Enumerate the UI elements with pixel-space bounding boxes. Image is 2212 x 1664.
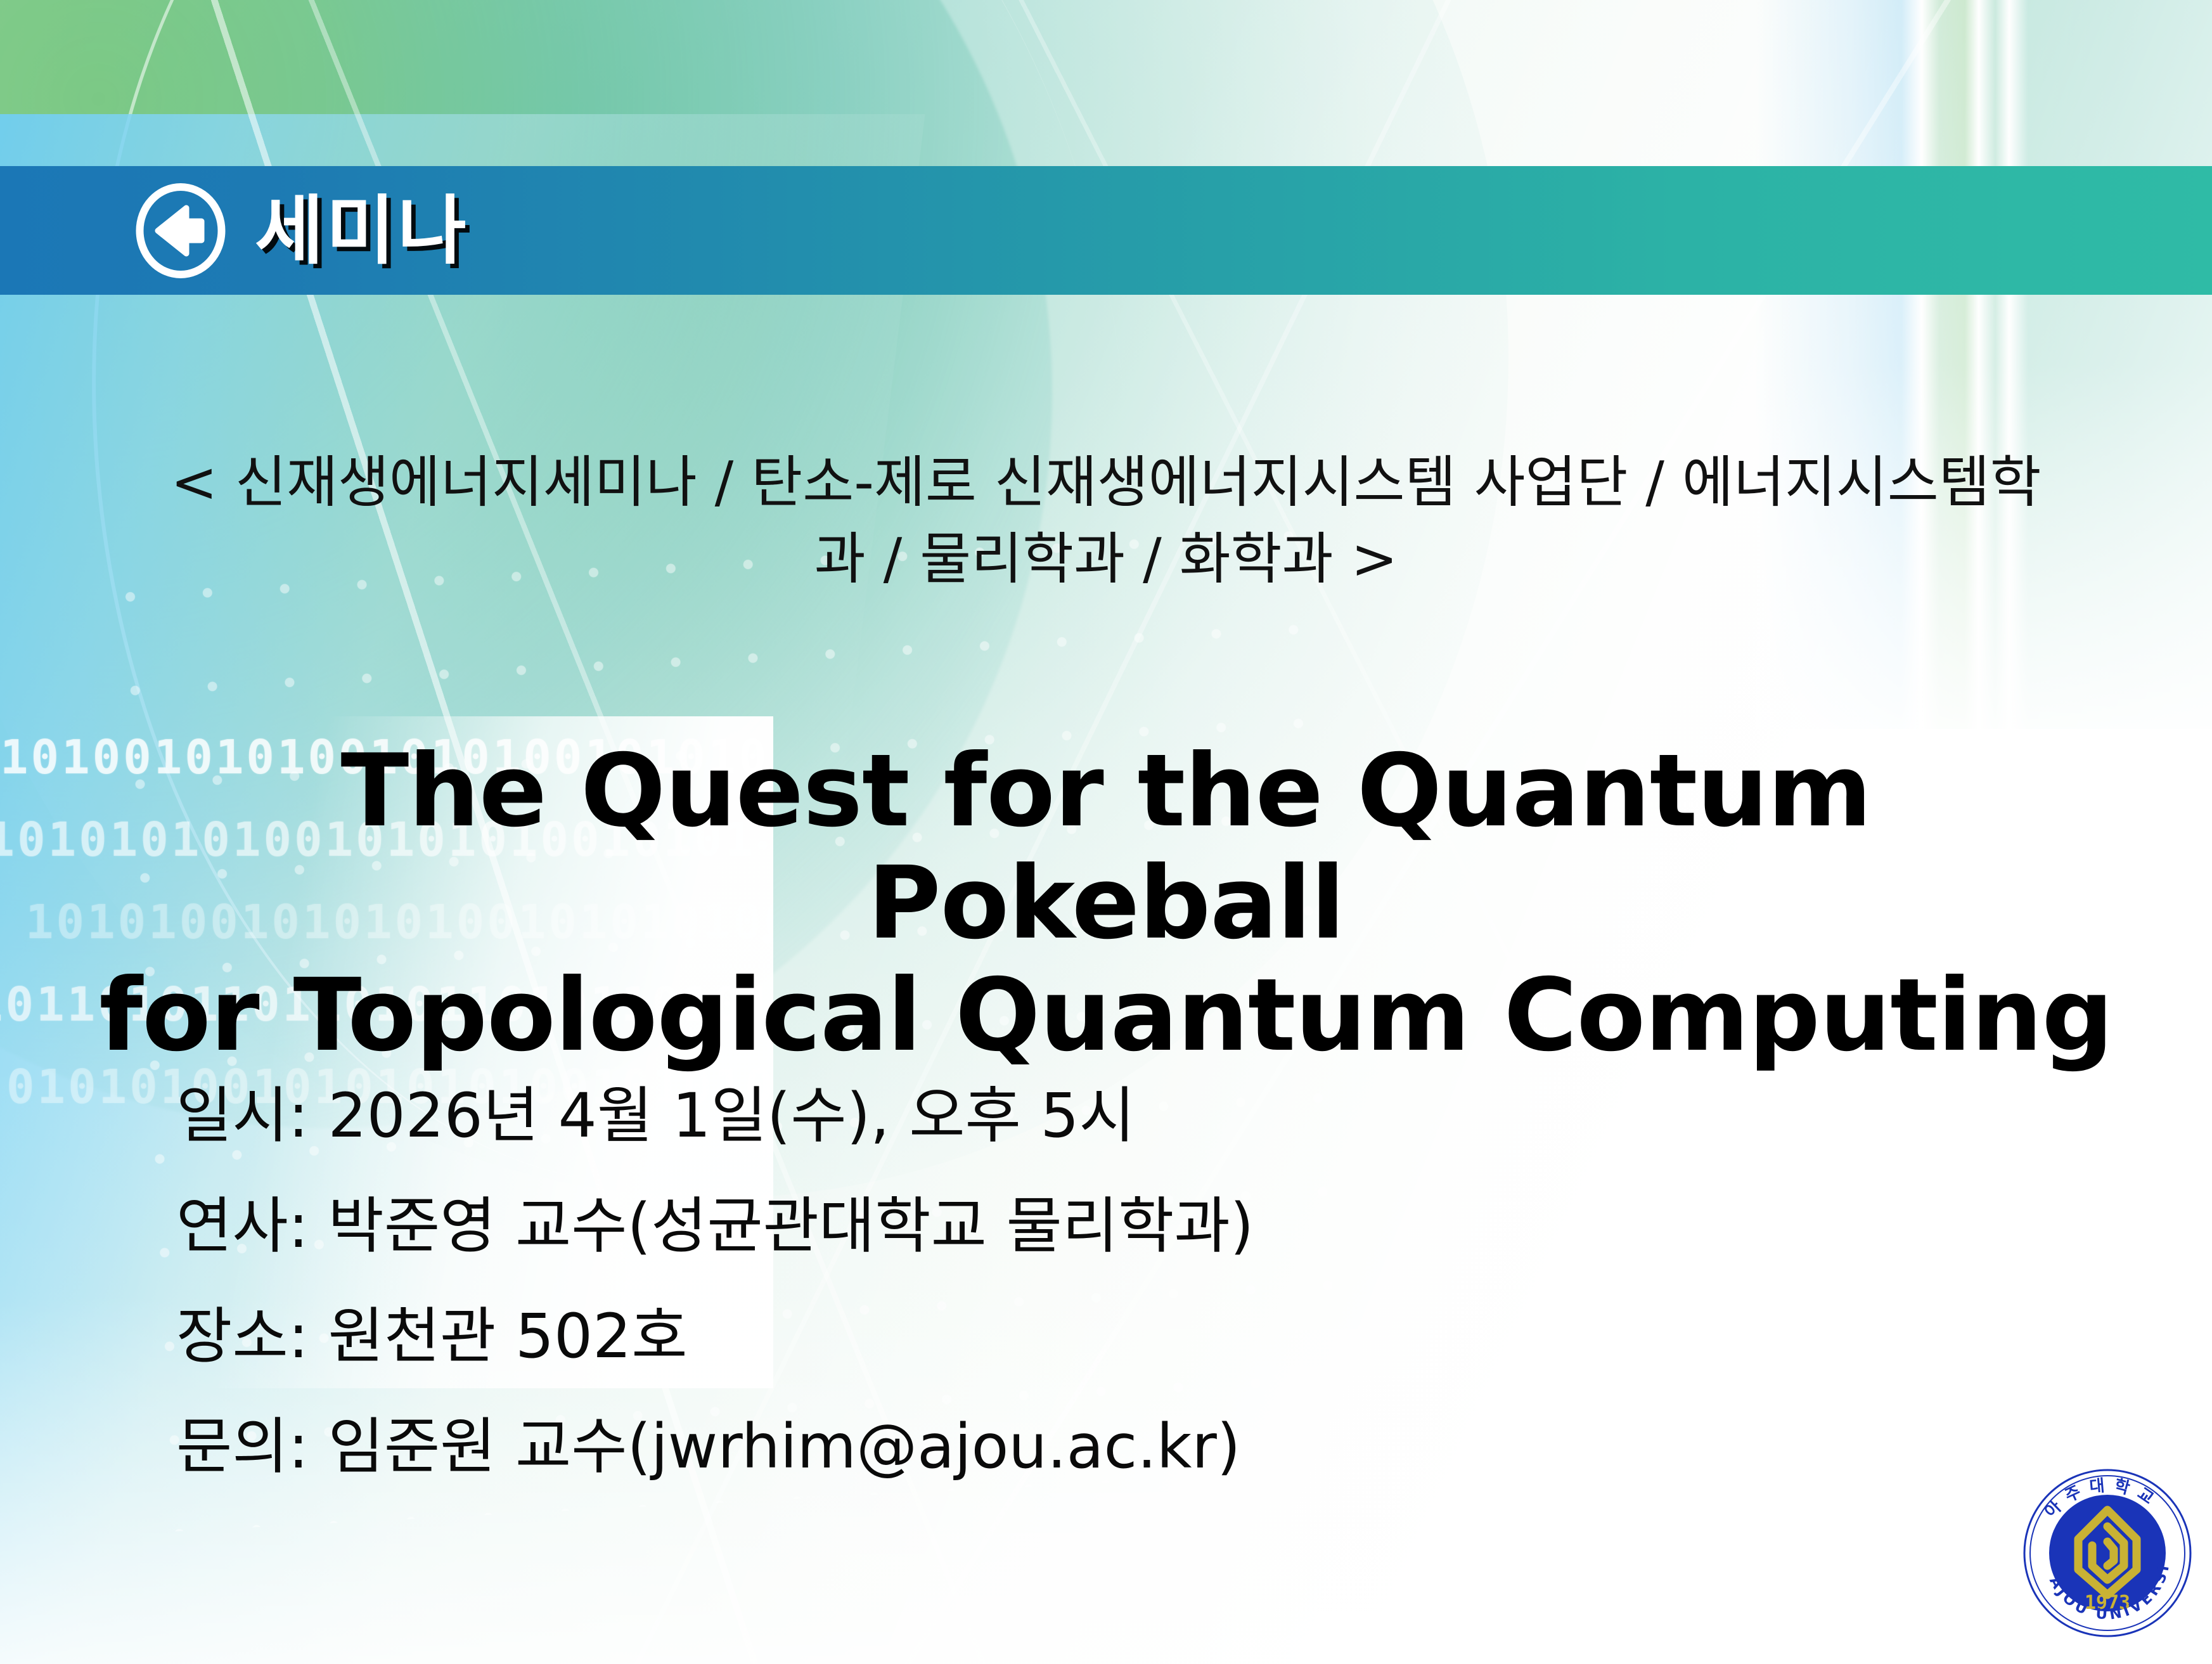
detail-contact: 문의: 임준원 교수(jwrhim@ajou.ac.kr) <box>176 1416 1887 1477</box>
back-arrow-circle-icon[interactable] <box>133 183 228 278</box>
header-title: 세미나 <box>255 193 469 268</box>
header-band: 세미나 <box>0 166 2212 295</box>
detail-datetime: 일시: 2026년 4월 1일(수), 오후 5시 <box>176 1085 1887 1146</box>
title-line-1: The Quest for the Quantum Pokeball <box>89 735 2123 960</box>
ajou-university-logo: 1973 아주대학교 AJOU UNIVERSITY <box>2012 1458 2202 1648</box>
event-details: 일시: 2026년 4월 1일(수), 오후 5시 연사: 박준영 교수(성균관… <box>176 1085 1887 1526</box>
background-stripes-fade <box>1756 0 2212 729</box>
seminar-poster-slide: 10100101010010101001010101 0101010101001… <box>0 0 2212 1664</box>
subtitle-line: < 신재생에너지세미나 / 탄소-제로 신재생에너지시스템 사업단 / 에너지시… <box>0 444 2212 598</box>
detail-speaker: 연사: 박준영 교수(성균관대학교 물리학과) <box>176 1196 1887 1256</box>
detail-location: 장소: 원천관 502호 <box>176 1306 1887 1367</box>
page-title: The Quest for the Quantum Pokeball for T… <box>0 735 2212 1072</box>
title-line-2: for Topological Quantum Computing <box>89 960 2123 1072</box>
